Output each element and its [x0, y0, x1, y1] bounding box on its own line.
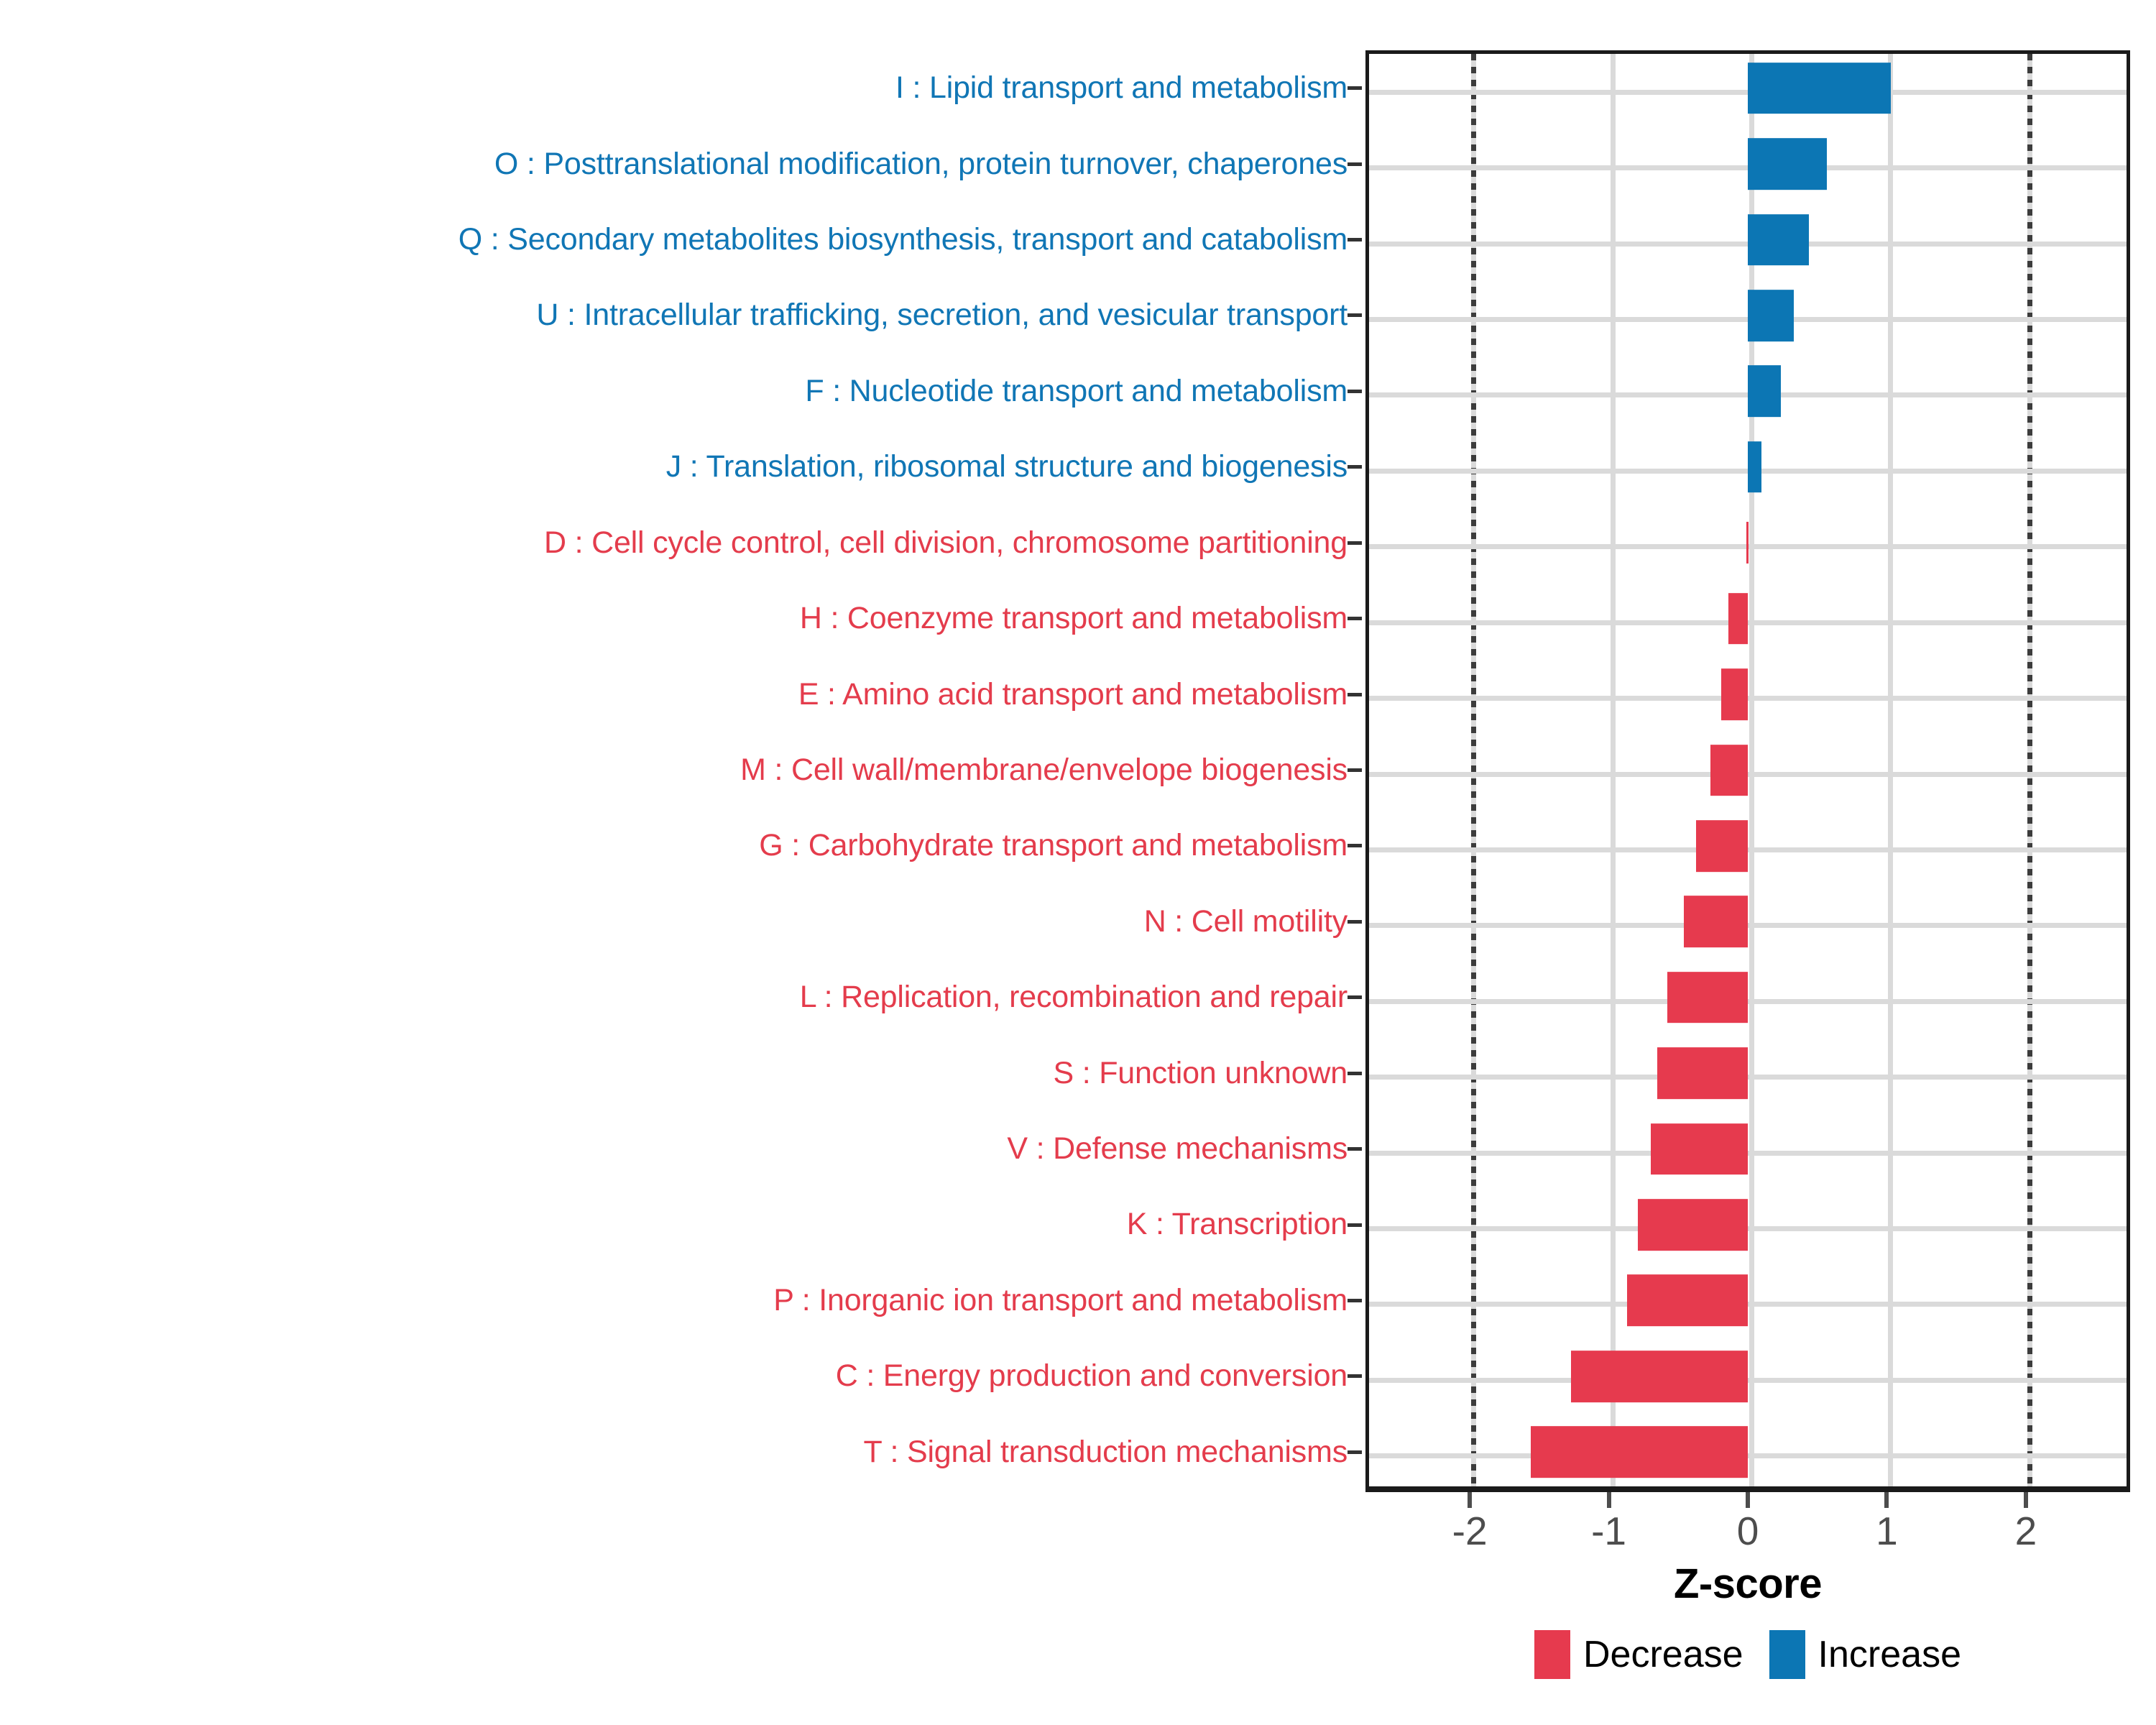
bar-decrease[interactable]	[1571, 1351, 1748, 1402]
bar-decrease[interactable]	[1657, 1047, 1748, 1099]
bar-decrease[interactable]	[1721, 668, 1748, 720]
chart-row: G : Carbohydrate transport and metabolis…	[0, 808, 2156, 883]
legend-item-decrease[interactable]: Decrease	[1534, 1630, 1743, 1679]
chart-row: M : Cell wall/membrane/envelope biogenes…	[0, 732, 2156, 808]
x-tick-2	[2024, 1492, 2028, 1508]
bar-decrease[interactable]	[1667, 972, 1748, 1023]
bar-track	[1362, 277, 2156, 353]
chart-row: I : Lipid transport and metabolism	[0, 50, 2156, 126]
x-tick-1	[1884, 1492, 1889, 1508]
category-label: K : Transcription	[0, 1208, 1347, 1241]
y-axis-tick	[1347, 920, 1362, 924]
category-label: G : Carbohydrate transport and metabolis…	[0, 829, 1347, 862]
bar-decrease[interactable]	[1651, 1123, 1748, 1175]
x-axis-line	[1365, 1487, 2130, 1492]
y-axis-tick	[1347, 541, 1362, 545]
chart-row: P : Inorganic ion transport and metaboli…	[0, 1263, 2156, 1338]
category-label: U : Intracellular trafficking, secretion…	[0, 299, 1347, 331]
bar-track	[1362, 581, 2156, 656]
y-axis-tick	[1347, 1374, 1362, 1378]
category-label: O : Posttranslational modification, prot…	[0, 148, 1347, 180]
category-label: C : Energy production and conversion	[0, 1360, 1347, 1392]
chart-row: S : Function unknown	[0, 1035, 2156, 1110]
bar-decrease[interactable]	[1627, 1275, 1748, 1327]
bar-decrease[interactable]	[1728, 593, 1748, 645]
chart-row: C : Energy production and conversion	[0, 1338, 2156, 1414]
y-axis-tick	[1347, 313, 1362, 317]
bar-track	[1362, 1263, 2156, 1338]
bar-track	[1362, 1338, 2156, 1414]
legend-label: Increase	[1818, 1633, 1961, 1676]
bar-decrease[interactable]	[1531, 1426, 1748, 1478]
y-axis-tick	[1347, 617, 1362, 620]
x-tick-label: 1	[1876, 1508, 1898, 1554]
chart-row: J : Translation, ribosomal structure and…	[0, 429, 2156, 505]
chart-row: K : Transcription	[0, 1187, 2156, 1262]
bar-track	[1362, 50, 2156, 126]
bar-decrease[interactable]	[1746, 522, 1749, 563]
y-axis-tick	[1347, 1147, 1362, 1151]
y-axis-tick	[1347, 844, 1362, 847]
y-axis-tick	[1347, 1450, 1362, 1454]
bar-increase[interactable]	[1748, 214, 1809, 266]
category-label: S : Function unknown	[0, 1057, 1347, 1090]
chart-rows: I : Lipid transport and metabolismO : Po…	[0, 50, 2156, 1490]
category-label: I : Lipid transport and metabolism	[0, 72, 1347, 104]
category-label: Q : Secondary metabolites biosynthesis, …	[0, 224, 1347, 256]
y-axis-tick	[1347, 465, 1362, 469]
bar-track	[1362, 429, 2156, 505]
bar-track	[1362, 1111, 2156, 1187]
category-label: N : Cell motility	[0, 906, 1347, 938]
legend-item-increase[interactable]: Increase	[1769, 1630, 1961, 1679]
chart-row: L : Replication, recombination and repai…	[0, 960, 2156, 1035]
bar-increase[interactable]	[1748, 63, 1891, 114]
chart-row: O : Posttranslational modification, prot…	[0, 126, 2156, 201]
bar-decrease[interactable]	[1638, 1199, 1748, 1251]
bar-track	[1362, 354, 2156, 429]
legend-swatch-increase	[1769, 1630, 1805, 1679]
chart-row: F : Nucleotide transport and metabolism	[0, 354, 2156, 429]
category-label: P : Inorganic ion transport and metaboli…	[0, 1284, 1347, 1317]
chart-legend: DecreaseIncrease	[1365, 1630, 2130, 1679]
category-label: H : Coenzyme transport and metabolism	[0, 602, 1347, 635]
legend-label: Decrease	[1583, 1633, 1743, 1676]
x-axis-title: Z-score	[1365, 1560, 2130, 1608]
x-tick-label: -1	[1591, 1508, 1626, 1554]
category-label: D : Cell cycle control, cell division, c…	[0, 527, 1347, 559]
bar-track	[1362, 202, 2156, 277]
legend-swatch-decrease	[1534, 1630, 1570, 1679]
bar-increase[interactable]	[1748, 441, 1761, 493]
bar-decrease[interactable]	[1696, 820, 1748, 872]
chart-row: H : Coenzyme transport and metabolism	[0, 581, 2156, 656]
x-tick-label: -2	[1452, 1508, 1488, 1554]
category-label: T : Signal transduction mechanisms	[0, 1436, 1347, 1468]
x-tick-label: 2	[2015, 1508, 2037, 1554]
y-axis-tick	[1347, 995, 1362, 999]
category-label: J : Translation, ribosomal structure and…	[0, 451, 1347, 483]
y-axis-tick	[1347, 768, 1362, 772]
bar-track	[1362, 656, 2156, 732]
bar-track	[1362, 1187, 2156, 1262]
y-axis-tick	[1347, 238, 1362, 241]
y-axis-tick	[1347, 86, 1362, 90]
chart-row: Q : Secondary metabolites biosynthesis, …	[0, 202, 2156, 277]
bar-increase[interactable]	[1748, 366, 1781, 418]
chart-row: D : Cell cycle control, cell division, c…	[0, 505, 2156, 581]
category-label: M : Cell wall/membrane/envelope biogenes…	[0, 754, 1347, 786]
bar-increase[interactable]	[1748, 138, 1827, 190]
bar-decrease[interactable]	[1684, 896, 1748, 948]
x-tick--1	[1607, 1492, 1611, 1508]
bar-track	[1362, 884, 2156, 960]
y-axis-tick	[1347, 1223, 1362, 1227]
chart-row: V : Defense mechanisms	[0, 1111, 2156, 1187]
bar-track	[1362, 1414, 2156, 1490]
y-axis-tick	[1347, 1299, 1362, 1302]
category-label: V : Defense mechanisms	[0, 1133, 1347, 1165]
chart-row: T : Signal transduction mechanisms	[0, 1414, 2156, 1490]
chart-row: E : Amino acid transport and metabolism	[0, 656, 2156, 732]
cog-z-score-bar-chart: I : Lipid transport and metabolismO : Po…	[0, 0, 2156, 1725]
y-axis-tick	[1347, 1072, 1362, 1075]
y-axis-tick	[1347, 162, 1362, 166]
x-tick--2	[1468, 1492, 1472, 1508]
y-axis-tick	[1347, 693, 1362, 696]
bar-track	[1362, 1035, 2156, 1110]
bar-track	[1362, 808, 2156, 883]
x-tick-label: 0	[1737, 1508, 1759, 1554]
chart-row: N : Cell motility	[0, 884, 2156, 960]
category-label: E : Amino acid transport and metabolism	[0, 678, 1347, 711]
bar-track	[1362, 732, 2156, 808]
bar-decrease[interactable]	[1710, 745, 1748, 796]
category-label: L : Replication, recombination and repai…	[0, 981, 1347, 1013]
bar-increase[interactable]	[1748, 290, 1794, 341]
y-axis-tick	[1347, 390, 1362, 393]
chart-row: U : Intracellular trafficking, secretion…	[0, 277, 2156, 353]
bar-track	[1362, 505, 2156, 581]
bar-track	[1362, 126, 2156, 201]
x-tick-0	[1746, 1492, 1750, 1508]
bar-track	[1362, 960, 2156, 1035]
category-label: F : Nucleotide transport and metabolism	[0, 375, 1347, 408]
